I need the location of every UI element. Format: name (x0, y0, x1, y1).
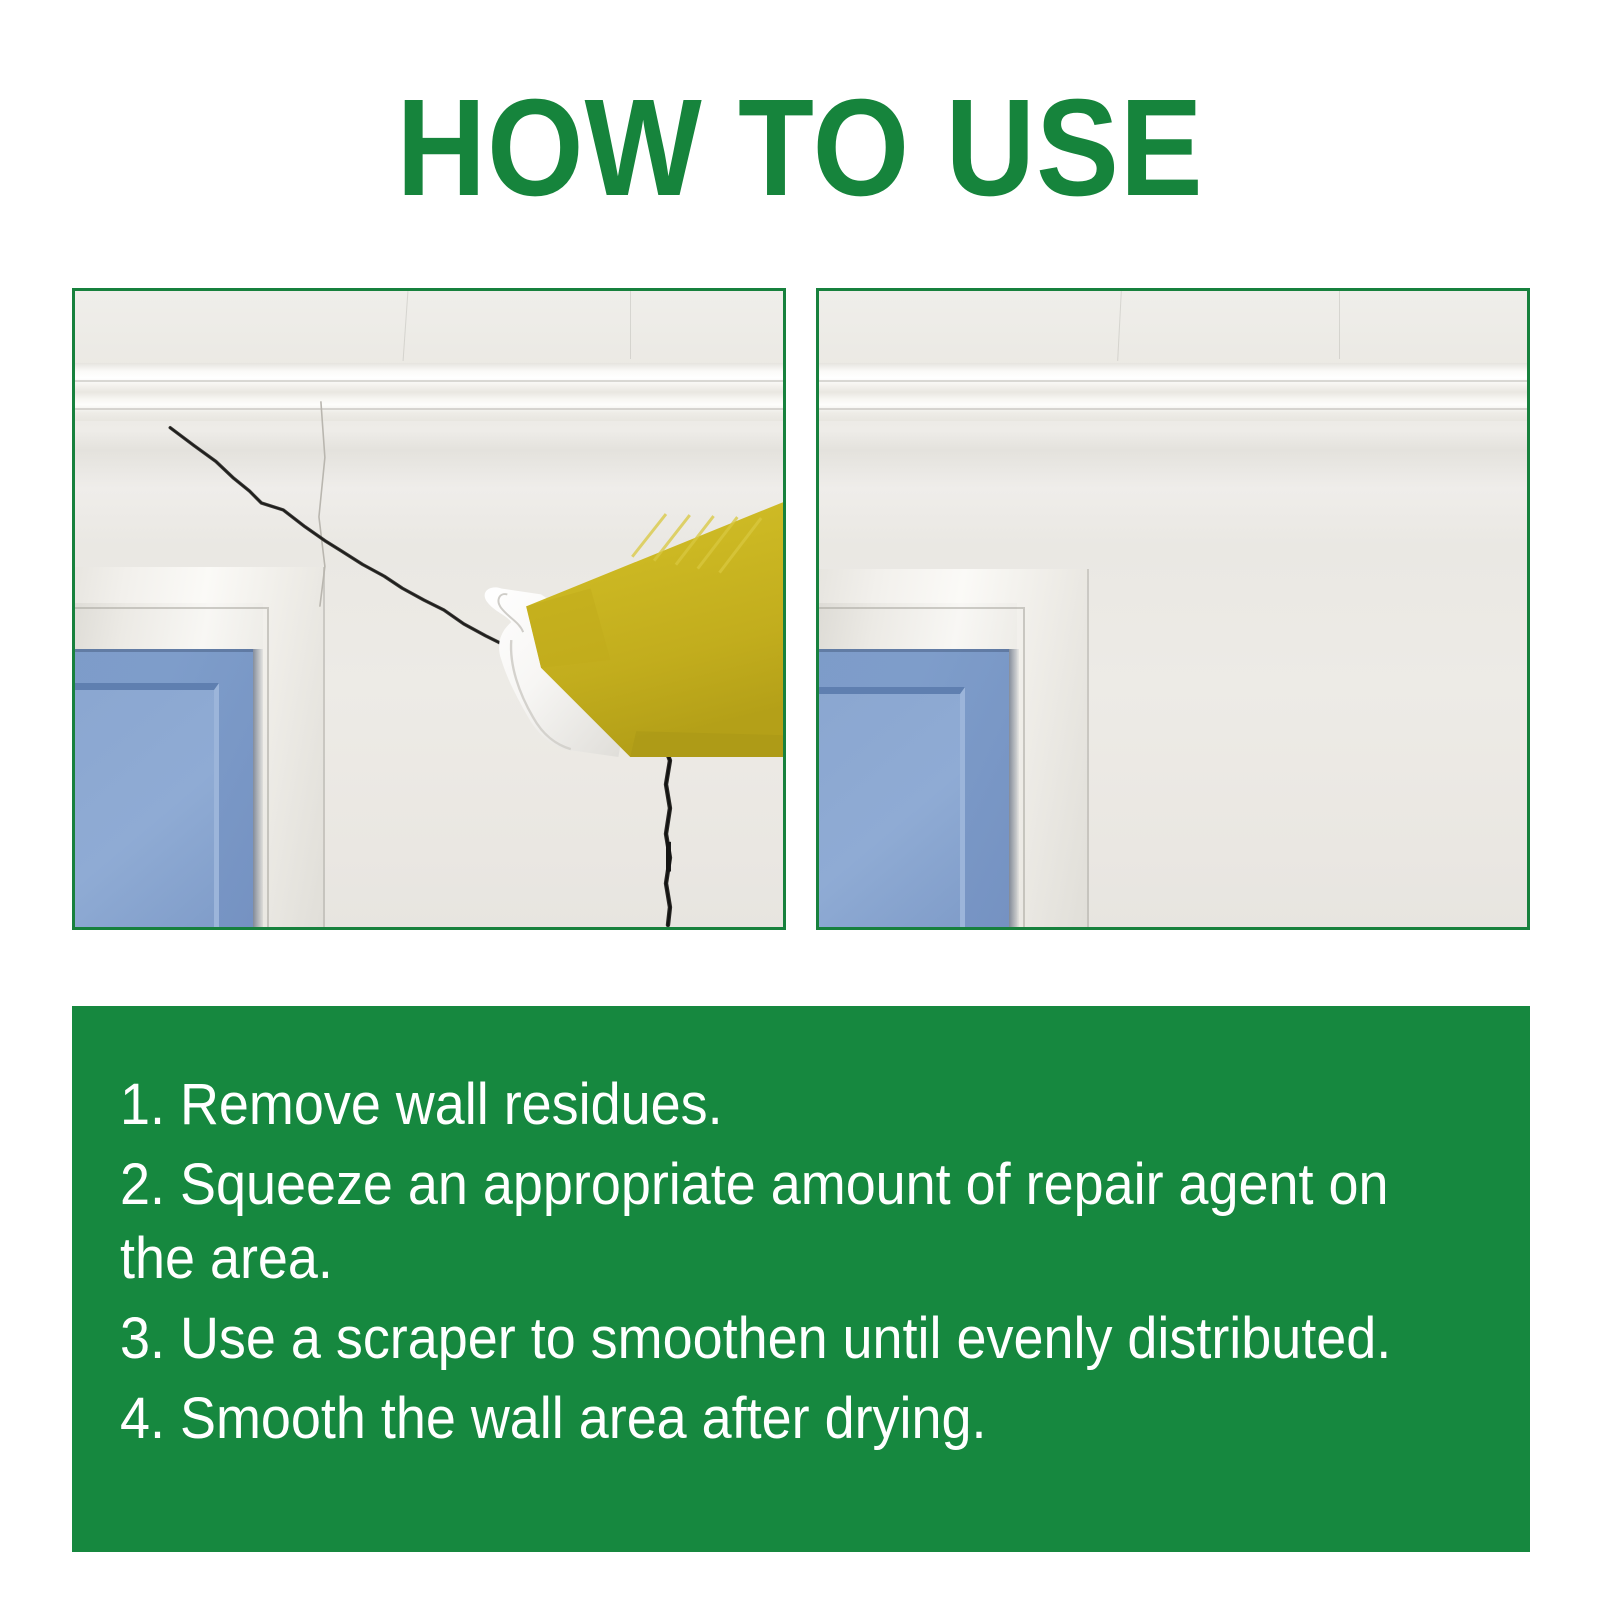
ceiling-seam-icon (1117, 291, 1122, 361)
blue-door (819, 649, 1009, 927)
door-assembly (819, 569, 1089, 927)
before-photo (75, 291, 783, 927)
instruction-step-4: 4. Smooth the wall area after drying. (120, 1382, 1389, 1456)
instruction-step-2: 2. Squeeze an appropriate amount of repa… (120, 1148, 1389, 1296)
door-edge-shadow (1009, 649, 1019, 927)
casing-reveal-line (819, 607, 1023, 609)
door-panel-inset (819, 687, 965, 927)
page-title: HOW TO USE (80, 78, 1520, 218)
before-photo-panel (72, 288, 786, 930)
wall-crack (75, 291, 783, 927)
instruction-step-3: 3. Use a scraper to smoothen until evenl… (120, 1302, 1389, 1376)
after-photo-panel (816, 288, 1530, 930)
crown-molding (819, 363, 1527, 421)
casing-reveal-line (1023, 607, 1025, 927)
instruction-step-1: 1. Remove wall residues. (120, 1068, 1389, 1142)
instructions-block: 1. Remove wall residues. 2. Squeeze an a… (72, 1006, 1530, 1552)
ceiling-seam-icon (1339, 291, 1340, 359)
after-photo (819, 291, 1527, 927)
